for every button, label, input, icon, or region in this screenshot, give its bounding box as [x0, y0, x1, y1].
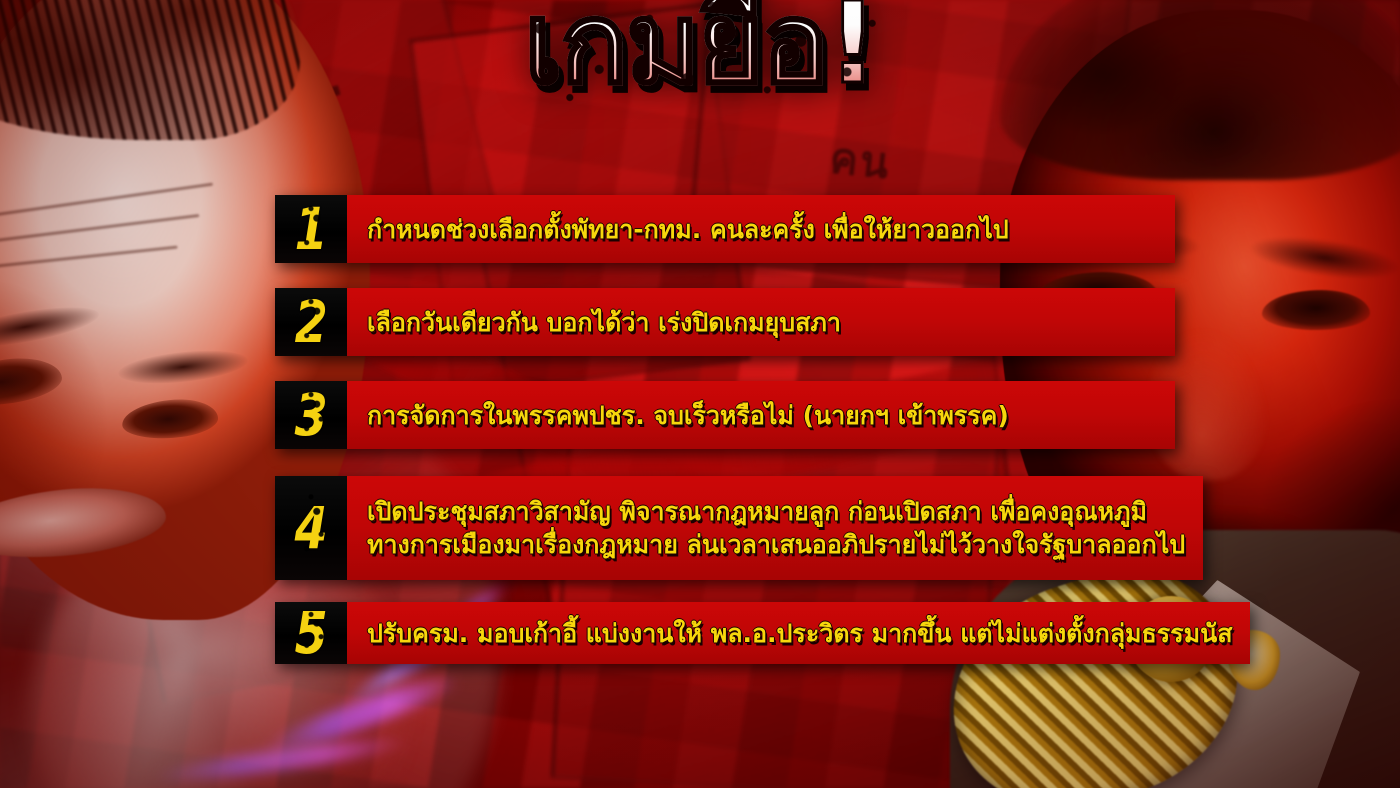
list-item-text: เปิดประชุมสภาวิสามัญ พิจารณากฎหมายลูก ก่…	[367, 495, 1185, 528]
list-item-text: ปรับครม. มอบเก้าอี้ แบ่งงานให้ พล.อ.ประว…	[367, 617, 1232, 650]
right-portrait-hair	[1000, 0, 1400, 180]
news-graphic-stage: ตั้ง ส.ส. กิตย์ทั่ว กล้า พอ คน เลือก 60 …	[0, 0, 1400, 788]
numbered-list: 1 กำหนดช่วงเลือกตั้งพัทยา-กทม. คนละครั้ง…	[275, 195, 1175, 664]
list-item-text: เลือกวันเดียวกัน บอกได้ว่า เร่งปิดเกมยุบ…	[367, 306, 1157, 339]
list-item: 4 เปิดประชุมสภาวิสามัญ พิจารณากฎหมายลูก …	[275, 476, 1175, 580]
list-item-number: 5	[294, 604, 327, 662]
left-portrait-hair	[0, 0, 300, 140]
list-item: 1 กำหนดช่วงเลือกตั้งพัทยา-กทม. คนละครั้ง…	[275, 195, 1175, 263]
list-item-bar: ปรับครม. มอบเก้าอี้ แบ่งงานให้ พล.อ.ประว…	[347, 602, 1250, 664]
list-item: 2 เลือกวันเดียวกัน บอกได้ว่า เร่งปิดเกมย…	[275, 288, 1175, 356]
list-item: 5 ปรับครม. มอบเก้าอี้ แบ่งงานให้ พล.อ.ปร…	[275, 602, 1175, 664]
list-item-number-badge: 2	[275, 288, 347, 356]
list-item-text: กำหนดช่วงเลือกตั้งพัทยา-กทม. คนละครั้ง เ…	[367, 213, 1157, 246]
list-item-number-badge: 3	[275, 381, 347, 449]
list-item-number-badge: 4	[275, 476, 347, 580]
list-item-number-badge: 1	[275, 195, 347, 263]
list-item-bar: กำหนดช่วงเลือกตั้งพัทยา-กทม. คนละครั้ง เ…	[347, 195, 1175, 263]
list-item-text: ทางการเมืองมาเรื่องกฎหมาย ล่นเวลาเสนออภิ…	[367, 528, 1185, 561]
list-item-number: 1	[294, 200, 327, 258]
list-item: 3 การจัดการในพรรคพปชร. จบเร็วหรือไม่ (นา…	[275, 381, 1175, 449]
poster-text-fragment: คน	[827, 125, 894, 197]
list-item-bar: เปิดประชุมสภาวิสามัญ พิจารณากฎหมายลูก ก่…	[347, 476, 1203, 580]
list-item-number-badge: 5	[275, 602, 347, 664]
list-item-bar: การจัดการในพรรคพปชร. จบเร็วหรือไม่ (นายก…	[347, 381, 1175, 449]
list-item-number: 2	[294, 293, 327, 351]
list-item-text: การจัดการในพรรคพปชร. จบเร็วหรือไม่ (นายก…	[367, 399, 1157, 432]
list-item-number: 4	[294, 499, 327, 557]
list-item-number: 3	[294, 386, 327, 444]
list-item-bar: เลือกวันเดียวกัน บอกได้ว่า เร่งปิดเกมยุบ…	[347, 288, 1175, 356]
